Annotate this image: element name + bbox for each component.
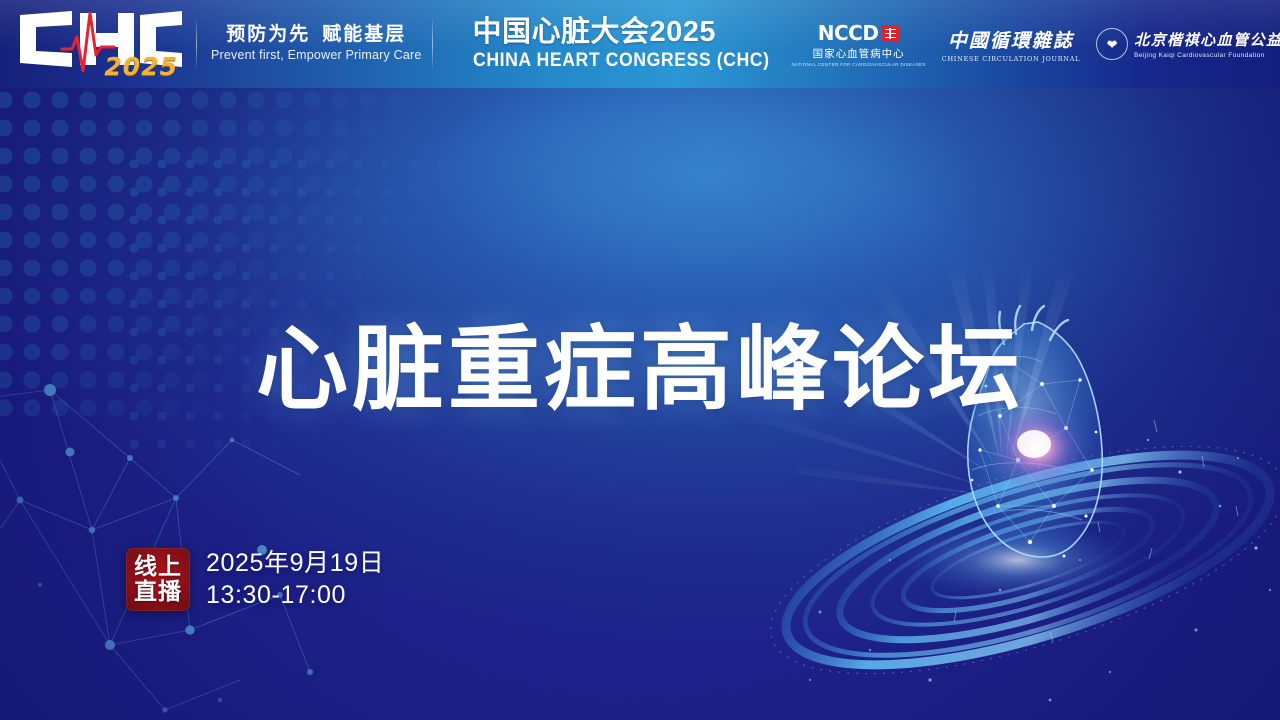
ccj-name-en: CHINESE CIRCULATION JOURNAL <box>942 55 1080 63</box>
nccd-logo-row: NCCD <box>818 21 900 45</box>
live-stream-info: 线上 直播 2025年9月19日 13:30-17:00 <box>126 547 384 611</box>
forum-title: 心脏重症高峰论坛 <box>0 324 1280 416</box>
chc-logo: 2025 <box>14 7 186 81</box>
conference-poster: 2025 预防为先赋能基层 Prevent first, Empower Pri… <box>0 0 1280 720</box>
header-divider <box>196 17 197 71</box>
congress-name-cn: 中国心脏大会2025 <box>473 18 792 48</box>
live-stream-badge: 线上 直播 <box>126 548 190 611</box>
kaiqi-name-cn: 北京楷祺心血管公益基金会 <box>1134 29 1280 50</box>
kaiqi-name-en: Beijing Kaiqi Cardiovascular Foundation <box>1134 52 1280 59</box>
congress-name-en: CHINA HEART CONGRESS (CHC) <box>473 51 770 70</box>
tagline-cn: 预防为先赋能基层 <box>211 25 422 45</box>
congress-name: 中国心脏大会2025 CHINA HEART CONGRESS (CHC) <box>473 18 792 70</box>
nccd-wordmark: NCCD <box>818 21 879 45</box>
conference-header-bar: 2025 预防为先赋能基层 Prevent first, Empower Pri… <box>0 0 1280 88</box>
chinese-circulation-journal-logo: 中國循環雜誌 CHINESE CIRCULATION JOURNAL <box>942 26 1080 63</box>
live-badge-line1: 线上 <box>134 554 182 579</box>
header-divider-2 <box>432 17 433 71</box>
nccd-logo: NCCD 国家心血管病中心 NATIONAL CENTER FOR CARDIO… <box>791 21 925 67</box>
nccd-name-en: NATIONAL CENTER FOR CARDIOVASCULAR DISEA… <box>791 62 925 67</box>
partner-logo-group: NCCD 国家心血管病中心 NATIONAL CENTER FOR CARDIO… <box>791 21 1280 67</box>
event-time: 13:30-17:00 <box>206 579 384 611</box>
tagline-en: Prevent first, Empower Primary Care <box>211 49 422 62</box>
nccd-seal-icon <box>882 25 899 42</box>
conference-tagline: 预防为先赋能基层 Prevent first, Empower Primary … <box>211 25 422 62</box>
heart-icon: ❤ <box>1107 38 1118 51</box>
nccd-name-cn: 国家心血管病中心 <box>813 46 905 61</box>
beijing-kaiqi-foundation-logo: ❤ 北京楷祺心血管公益基金会 Beijing Kaiqi Cardiovascu… <box>1096 28 1280 60</box>
kaiqi-text: 北京楷祺心血管公益基金会 Beijing Kaiqi Cardiovascula… <box>1134 29 1280 59</box>
event-datetime: 2025年9月19日 13:30-17:00 <box>206 547 384 611</box>
ccj-name-cn: 中國循環雜誌 <box>948 26 1074 53</box>
kaiqi-seal-icon: ❤ <box>1096 28 1128 60</box>
event-date: 2025年9月19日 <box>206 547 384 579</box>
live-badge-line2: 直播 <box>134 579 182 604</box>
chc-logo-year: 2025 <box>104 52 178 81</box>
